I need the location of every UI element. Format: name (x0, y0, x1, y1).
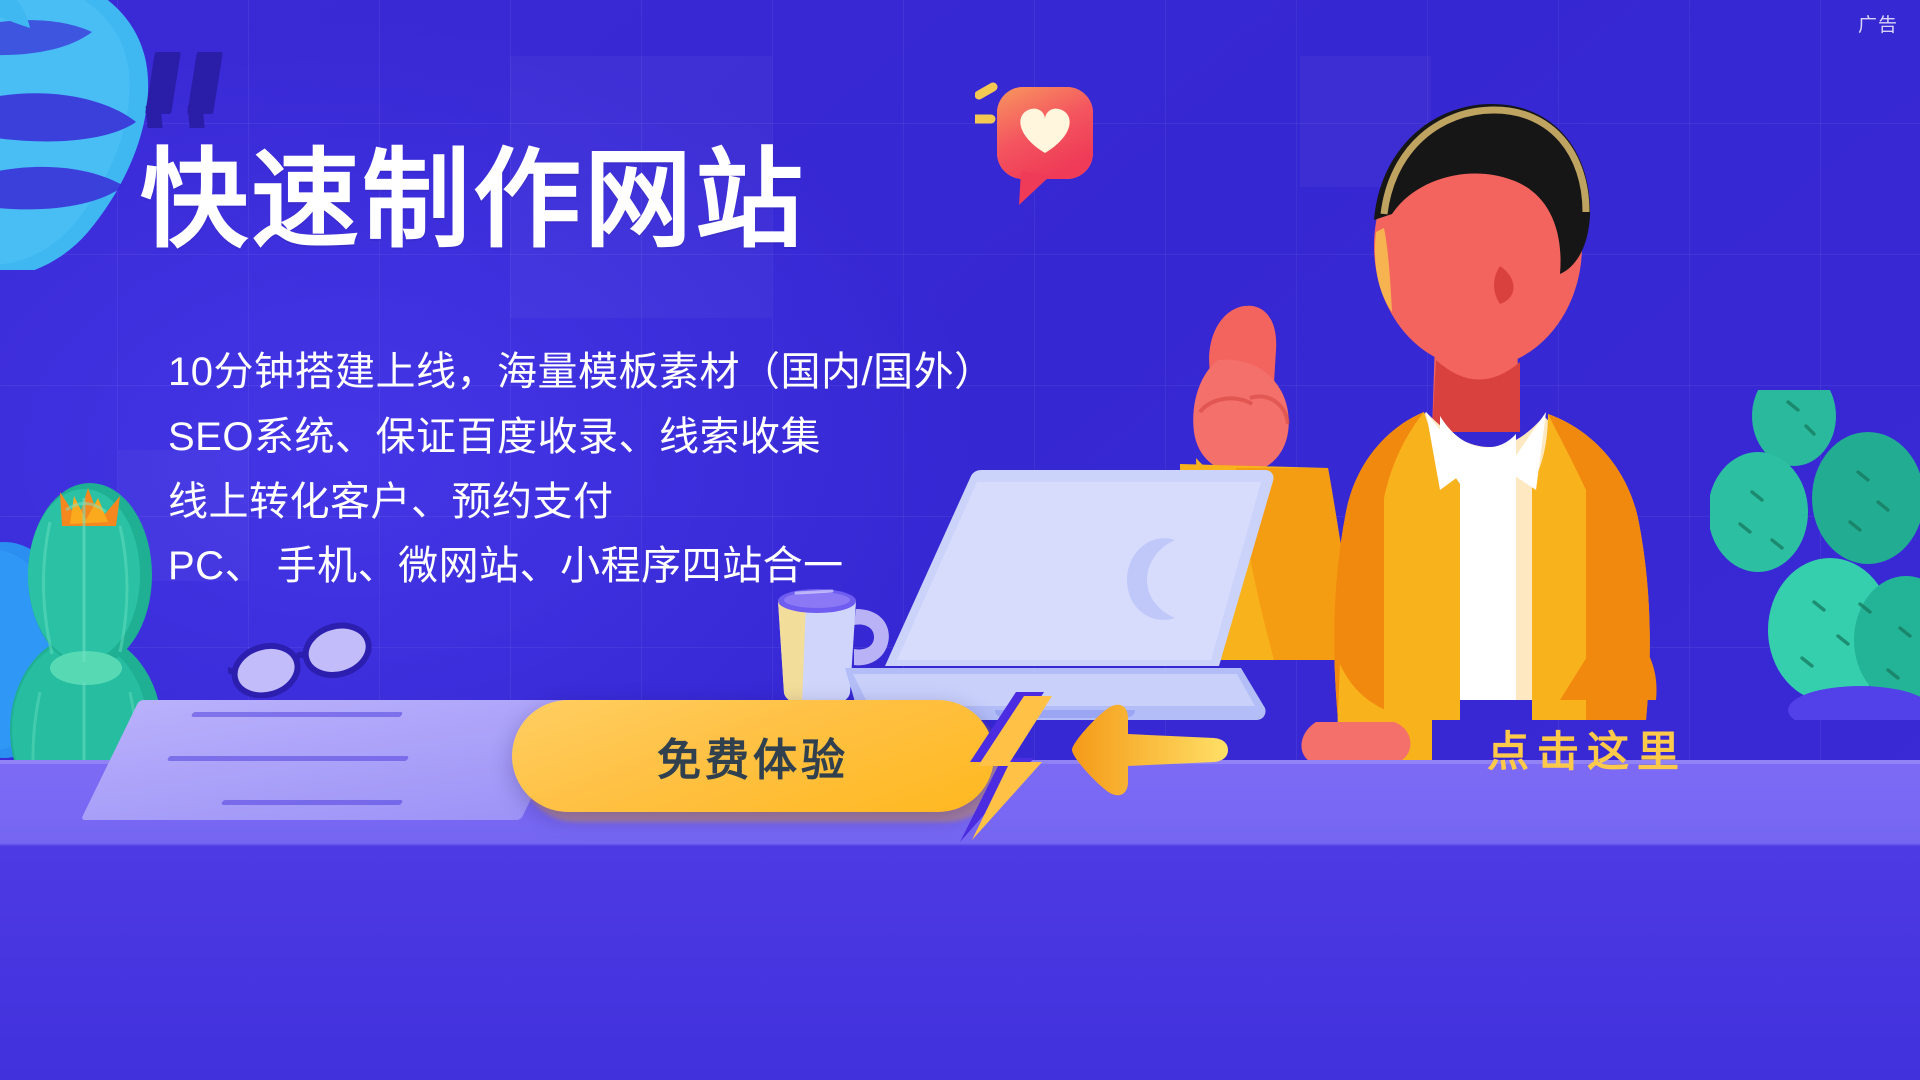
free-trial-button-label: 免费体验 (657, 724, 849, 788)
ad-label: 广告 (1858, 10, 1898, 37)
heart-like-icon (975, 75, 1105, 215)
click-here-hint: 点击这里 (1487, 718, 1687, 779)
feature-line: 10分钟搭建上线，海量模板素材（国内/国外） (168, 340, 995, 405)
desk-paper-line (167, 756, 409, 761)
prickly-pear-cactus-icon (1710, 390, 1920, 720)
quote-mark-decoration (150, 52, 234, 119)
feature-line: PC、 手机、微网站、小程序四站合一 (168, 534, 995, 599)
eyeglasses-icon (228, 618, 378, 698)
desk-paper-line (191, 712, 403, 717)
advertisement-banner: 快速制作网站 10分钟搭建上线，海量模板素材（国内/国外） SEO系统、保证百度… (0, 0, 1920, 1080)
feature-list: 10分钟搭建上线，海量模板素材（国内/国外） SEO系统、保证百度收录、线索收集… (168, 340, 995, 599)
left-arrow-icon (1068, 696, 1228, 804)
page-headline: 快速制作网站 (140, 140, 806, 261)
lightning-bolt-icon (960, 692, 1070, 842)
free-trial-button[interactable]: 免费体验 (512, 700, 994, 812)
desk-paper-line (221, 800, 403, 805)
feature-line: 线上转化客户、预约支付 (168, 470, 995, 535)
feature-line: SEO系统、保证百度收录、线索收集 (168, 405, 995, 470)
